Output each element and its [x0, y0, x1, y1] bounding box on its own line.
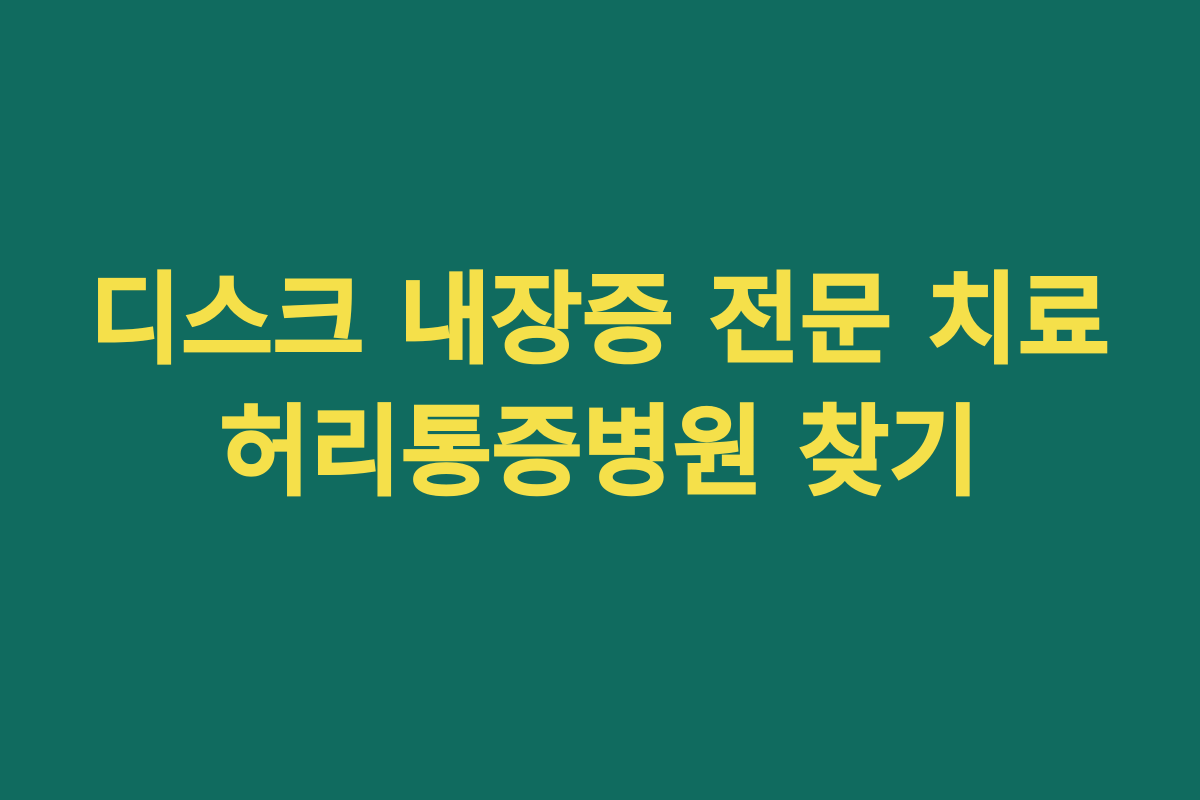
banner-canvas: 디스크 내장증 전문 치료 허리통증병원 찾기: [0, 0, 1200, 800]
headline-block: 디스크 내장증 전문 치료 허리통증병원 찾기: [0, 255, 1200, 519]
headline-line-2: 허리통증병원 찾기: [0, 388, 1200, 519]
headline-line-1: 디스크 내장증 전문 치료: [0, 255, 1200, 388]
